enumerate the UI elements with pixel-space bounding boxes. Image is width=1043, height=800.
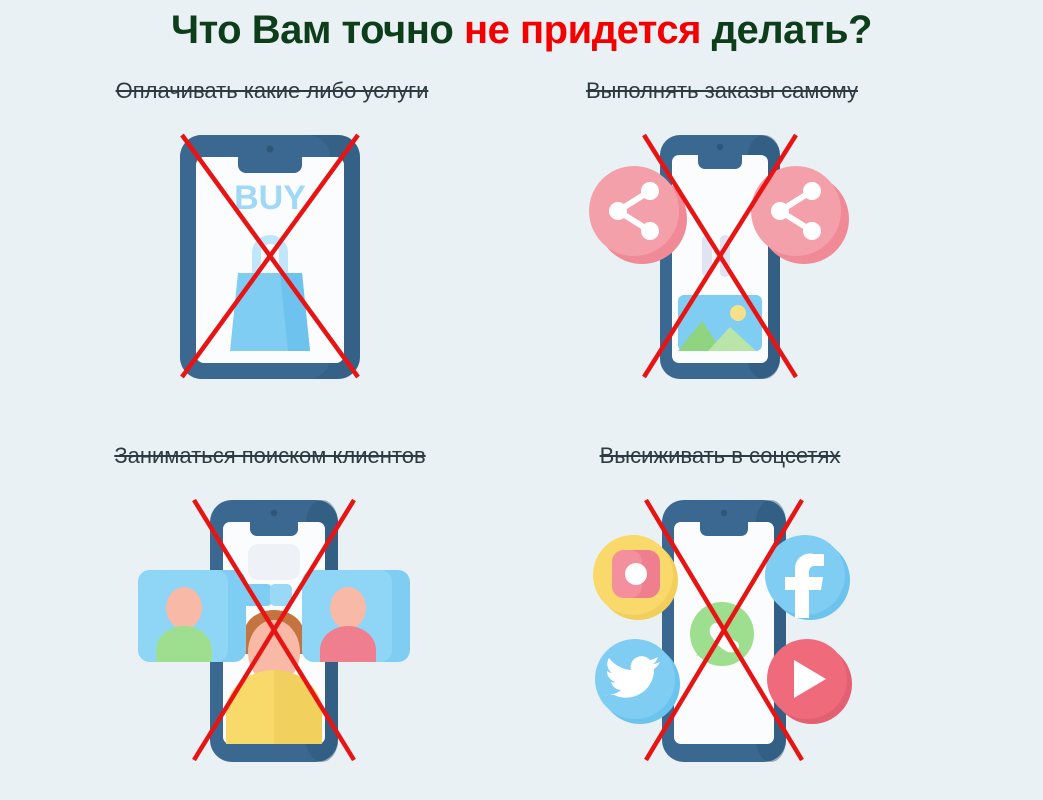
buy-screen-text: BUY (234, 179, 306, 217)
page-title-accent: не придется (464, 8, 701, 52)
page-title-part1: Что Вам точно (171, 8, 464, 52)
page-title: Что Вам точно не придется делать? (0, 8, 1043, 53)
photo-sun (730, 305, 746, 321)
phone-notch (238, 157, 302, 173)
phone-camera-dot (267, 146, 274, 153)
share-icon-left-highlight (589, 166, 679, 256)
illustration-phone-buy: BUY (20, 127, 520, 427)
grid-cell-sit-in-social-networks: Высиживать в соцсетях (470, 437, 970, 797)
screen-placeholder-top (248, 544, 300, 580)
cell-label-search-for-clients: Заниматься поиском клиентов (20, 443, 520, 469)
phone-camera-dot (717, 144, 723, 150)
phone-social-svg (570, 492, 870, 772)
illustration-grid: Оплачивать какие либо услуги BUY (0, 72, 1043, 800)
illustration-phone-video-call (20, 492, 520, 792)
grid-cell-pay-for-services: Оплачивать какие либо услуги BUY (20, 72, 520, 432)
phone-notch (250, 522, 298, 536)
phone-share-svg (580, 127, 860, 387)
phone-video-call-svg (120, 492, 420, 772)
phone-buy-svg: BUY (160, 127, 380, 387)
phone-notch (698, 155, 742, 169)
phone-notch (700, 522, 748, 536)
grid-cell-search-for-clients: Заниматься поиском клиентов (20, 437, 520, 797)
share-icon-right-highlight (751, 166, 841, 256)
illustration-phone-share (470, 127, 970, 427)
grid-cell-do-orders-yourself: Выполнять заказы самому (470, 72, 970, 432)
phone-camera-dot (721, 510, 727, 516)
illustration-phone-social (470, 492, 970, 792)
video-panel-left-face (166, 587, 202, 629)
cell-label-do-orders-yourself: Выполнять заказы самому (470, 78, 970, 104)
cell-label-pay-for-services: Оплачивать какие либо услуги (20, 78, 520, 104)
cell-label-sit-in-social-networks: Высиживать в соцсетях (470, 443, 970, 469)
video-panel-right-face (330, 587, 366, 629)
phone-camera-dot (271, 510, 277, 516)
page-title-part2: делать? (701, 8, 872, 52)
